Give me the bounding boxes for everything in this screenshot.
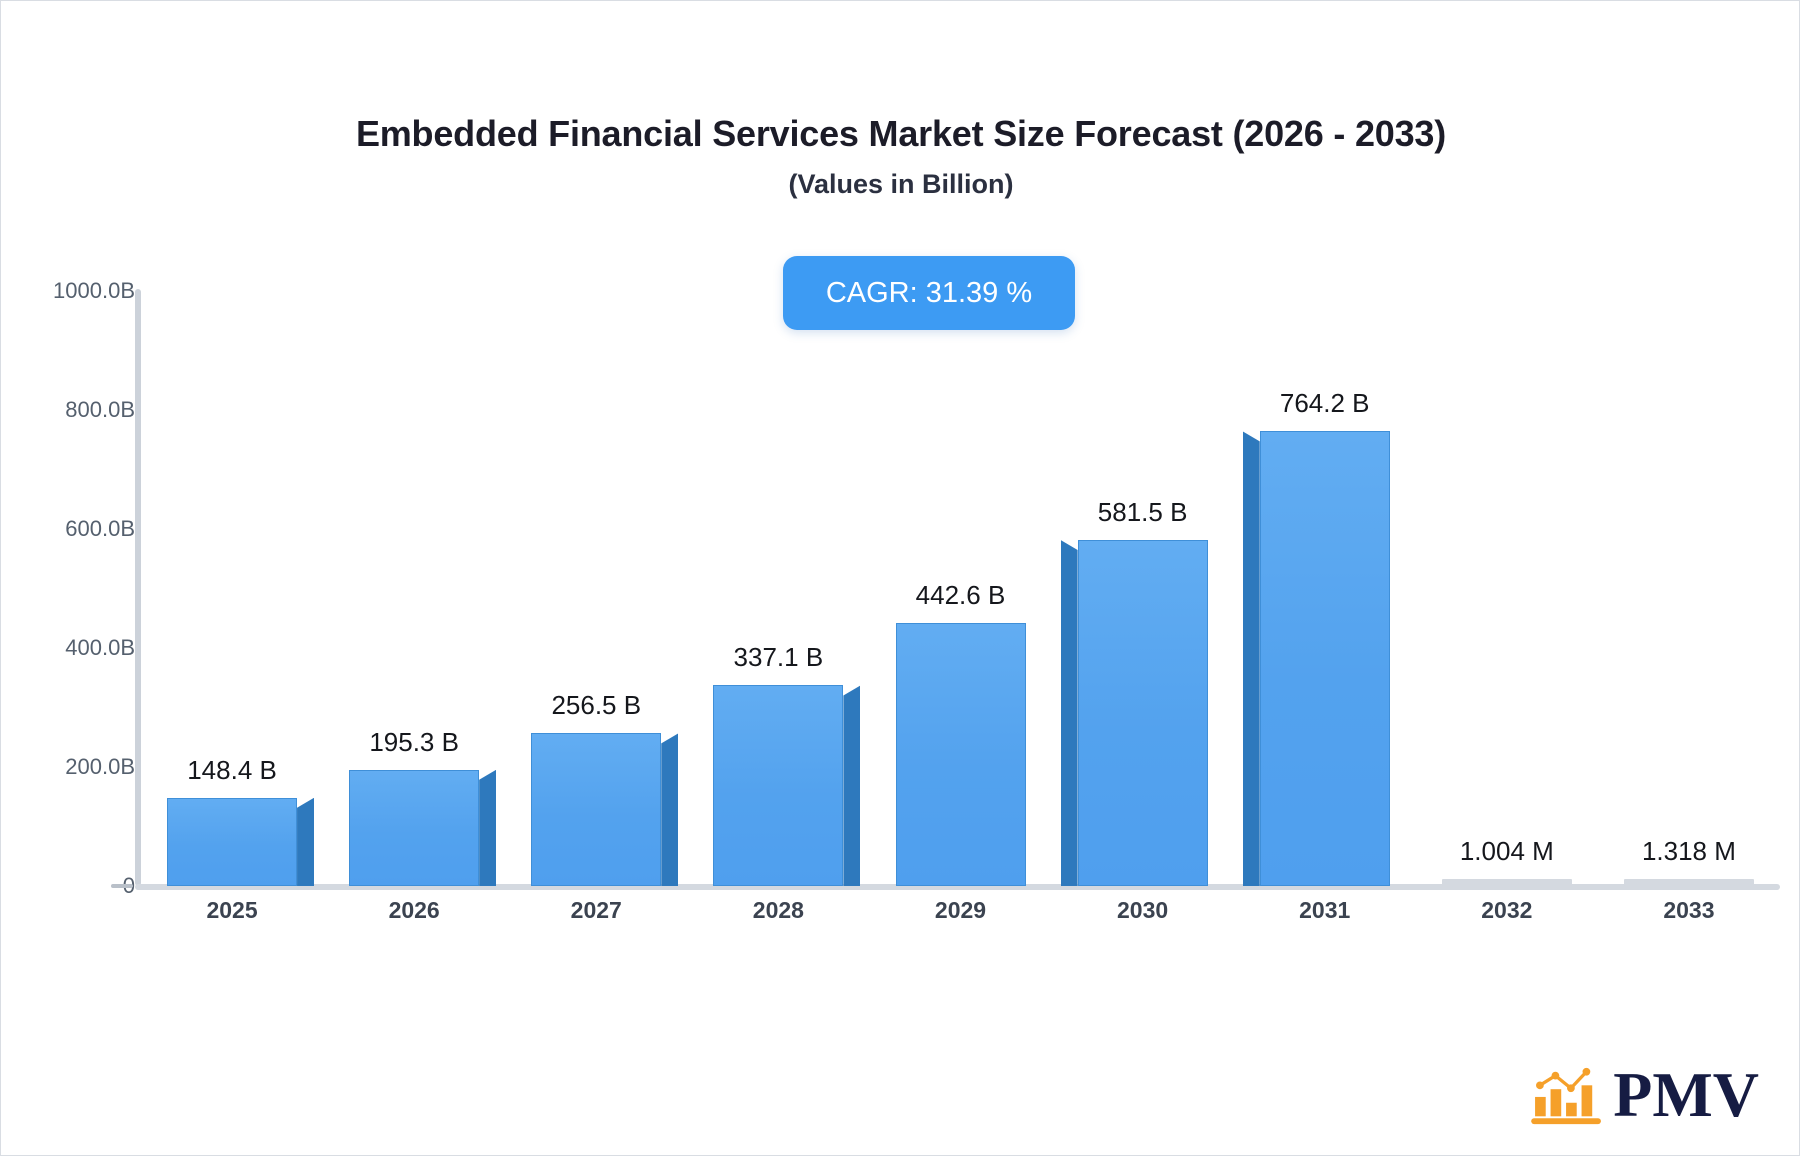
- plot-area: 0200.0B400.0B600.0B800.0B1000.0B 148.4 B…: [1, 1, 1800, 1156]
- bar-value-label: 337.1 B: [673, 642, 883, 673]
- x-tick-label: 2028: [718, 897, 838, 924]
- bar-front-face: [896, 623, 1026, 886]
- bar[interactable]: 256.5 B: [531, 733, 661, 886]
- bar-stub: [1624, 879, 1754, 886]
- bar-front-face: [713, 685, 843, 886]
- bar-side-face: [479, 770, 496, 886]
- bar-front-face: [349, 770, 479, 886]
- y-tick-label: 800.0B: [15, 397, 135, 423]
- y-tick-label: 400.0B: [15, 635, 135, 661]
- bar[interactable]: 195.3 B: [349, 770, 479, 886]
- bar[interactable]: 148.4 B: [167, 798, 297, 886]
- pmv-logo: PMV: [1529, 1063, 1759, 1127]
- bar-front-face: [167, 798, 297, 886]
- x-tick-label: 2031: [1265, 897, 1385, 924]
- bar-value-label: 1.004 M: [1402, 836, 1612, 867]
- bar[interactable]: 1.318 M: [1624, 879, 1754, 886]
- bar-value-label: 195.3 B: [309, 727, 519, 758]
- bar-chart-logo-icon: [1529, 1064, 1607, 1126]
- bar[interactable]: 764.2 B: [1260, 431, 1390, 886]
- bar-side-face: [297, 798, 314, 886]
- bar-value-label: 442.6 B: [856, 580, 1066, 611]
- x-tick-label: 2032: [1447, 897, 1567, 924]
- y-axis-line: [135, 289, 141, 886]
- x-tick-label: 2033: [1629, 897, 1749, 924]
- bar-value-label: 256.5 B: [491, 690, 701, 721]
- bar-side-face: [843, 685, 860, 886]
- x-tick-label: 2025: [172, 897, 292, 924]
- y-tick-label: 600.0B: [15, 516, 135, 542]
- bar[interactable]: 581.5 B: [1078, 540, 1208, 886]
- y-tick-dash: [111, 884, 133, 888]
- bar-side-face: [661, 733, 678, 886]
- x-tick-label: 2027: [536, 897, 656, 924]
- bar-side-face: [1061, 540, 1078, 886]
- chart-page: Embedded Financial Services Market Size …: [0, 0, 1800, 1156]
- bar-value-label: 148.4 B: [127, 755, 337, 786]
- y-tick-label: 1000.0B: [15, 278, 135, 304]
- bar-value-label: 581.5 B: [1038, 497, 1248, 528]
- y-tick-label: 200.0B: [15, 754, 135, 780]
- x-tick-label: 2029: [901, 897, 1021, 924]
- bar-front-face: [1078, 540, 1208, 886]
- x-tick-label: 2026: [354, 897, 474, 924]
- bar-side-face: [1243, 431, 1260, 886]
- bar-stub: [1442, 879, 1572, 886]
- bar[interactable]: 442.6 B: [896, 623, 1026, 886]
- bar-value-label: 764.2 B: [1220, 388, 1430, 419]
- pmv-logo-text: PMV: [1613, 1063, 1759, 1127]
- bar-front-face: [1260, 431, 1390, 886]
- bar-front-face: [531, 733, 661, 886]
- bar[interactable]: 1.004 M: [1442, 879, 1572, 886]
- x-tick-label: 2030: [1083, 897, 1203, 924]
- bar[interactable]: 337.1 B: [713, 685, 843, 886]
- bar-value-label: 1.318 M: [1584, 836, 1794, 867]
